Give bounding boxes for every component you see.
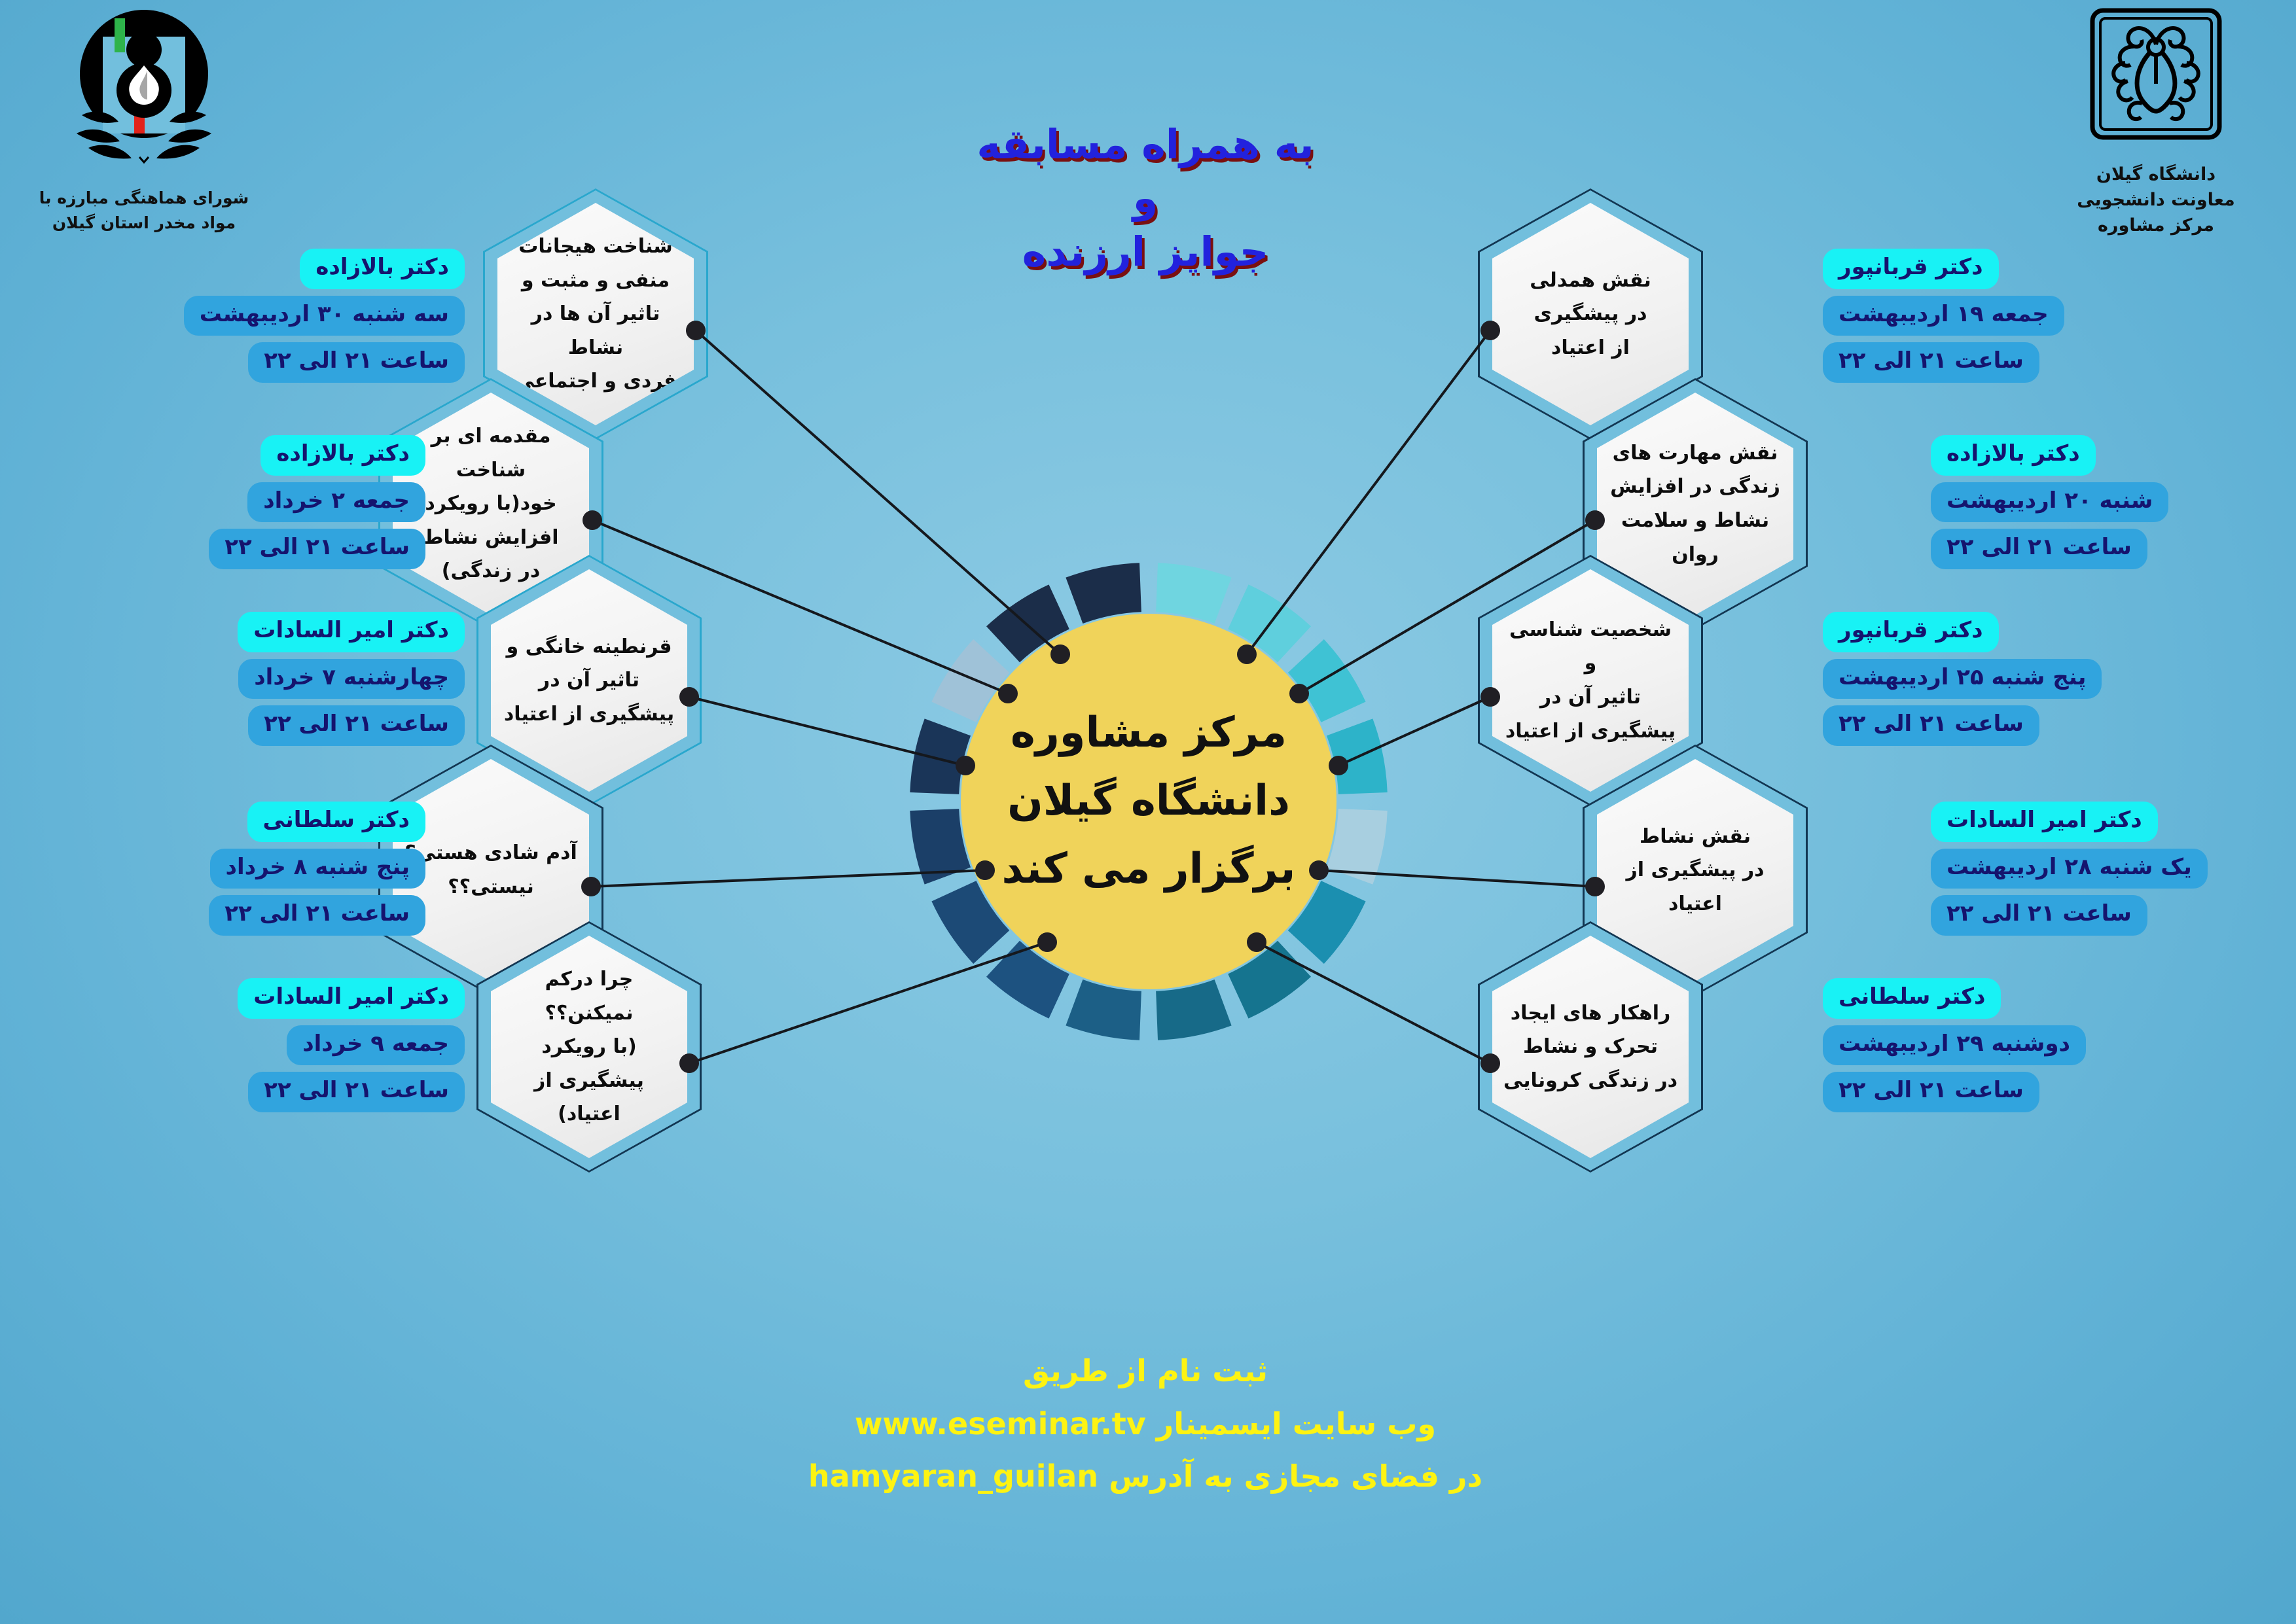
session-topic-line: در زندگی) [442,559,540,582]
ring-segment [1156,980,1231,1040]
time-pill: ساعت ۲۱ الی ۲۲ [209,895,425,936]
footer-line3: در فضای مجازی به آدرس hamyaran_guilan [589,1450,1702,1503]
left-brand-caption: شورای هماهنگی مبارزه با مواد مخدر استان … [7,186,281,235]
registration-footer: ثبت نام از طریق وب سایت ایسمینار www.ese… [589,1345,1702,1503]
session-topic: مقدمه ای بر شناختخود(با رویکردافزایش نشا… [403,419,579,588]
connector-dot [1585,877,1605,896]
session-topic-line: نیستی؟؟ [448,875,533,898]
poster-title-line1: به همراه مسابقه [916,118,1374,171]
session-topic-line: شناخت هیجانات [518,235,672,258]
session-topic-line: در پیشگیری از [1626,858,1765,881]
connector-dot [1247,932,1266,952]
connector-dot [1289,684,1309,703]
connector-dot [956,756,975,775]
connector-dot [1329,756,1348,775]
session-topic-line: فردی و اجتماعی [514,370,676,393]
speaker-pill: دکتر بالازاده [1931,435,2096,476]
session-topic-line: خود(با رویکرد [425,492,556,515]
speaker-pill: دکتر امیر السادات [238,612,465,652]
session-topic: چرا درکم نمیکنن؟؟(با رویکردپیشگیری از اع… [501,962,677,1131]
session-topic-line: تاثیر آن ها در نشاط [531,302,660,359]
footer-line1: ثبت نام از طریق [589,1345,1702,1398]
session-schedule-labels: دکتر بالازادهشنبه ۲۰ اردیبهشتساعت ۲۱ الی… [1931,435,2296,569]
connector-dot [1037,932,1057,952]
session-topic: راهکار های ایجادتحرک و نشاطدر زندگی کرون… [1503,997,1678,1098]
session-topic-line: مقدمه ای بر شناخت [431,425,551,482]
connector-dot [998,684,1018,703]
speaker-pill: دکتر سلطانی [1823,978,2001,1019]
time-pill: ساعت ۲۱ الی ۲۲ [248,1072,465,1112]
session-topic-line: پیشگیری از اعتیاد [1505,720,1676,743]
session-topic-line: چرا درکم نمیکنن؟؟ [545,968,633,1025]
date-pill: پنج شنبه ۲۵ اردیبهشت [1823,659,2102,699]
session-topic-line: تاثیر آن در [539,669,639,692]
center-line2: دانشگاه گیلان [1007,768,1290,836]
session-topic-line: افزایش نشاط [423,526,558,549]
session-schedule-labels: دکتر سلطانیپنج شنبه ۸ خردادساعت ۲۱ الی ۲… [59,802,425,936]
time-pill: ساعت ۲۱ الی ۲۲ [209,529,425,569]
right-brand-caption-line2: معاونت دانشجویی [2077,190,2235,210]
university-of-guilan-logo [2087,5,2225,159]
time-pill: ساعت ۲۱ الی ۲۲ [1823,705,2039,746]
session-topic-line: در زندگی کرونایی [1503,1069,1677,1092]
session-schedule-labels: دکتر قربانپورپنج شنبه ۲۵ اردیبهشتساعت ۲۱… [1823,612,2189,746]
session-topic: نقش مهارت هایزندگی در افزایشنشاط و سلامت… [1607,436,1783,571]
speaker-pill: دکتر سلطانی [247,802,425,842]
connector-dot [1050,644,1070,664]
center-line3: برگزار می کند [1002,836,1296,904]
date-pill: دوشنبه ۲۹ اردیبهشت [1823,1025,2086,1066]
session-topic-line: آدم شادی هستی؟ [404,841,577,864]
connector-dot [975,860,995,880]
session-topic: قرنطینه خانگی وتاثیر آن درپیشگیری از اعت… [501,630,677,732]
session-topic: شناخت هیجاناتمنفی و مثبت وتاثیر آن ها در… [508,230,683,398]
time-pill: ساعت ۲۱ الی ۲۲ [1823,1072,2039,1112]
connector-line [695,330,1062,656]
session-topic-line: پیشگیری از اعتیاد) [534,1069,644,1126]
right-brand-caption-line3: مرکز مشاوره [2098,215,2214,236]
session-schedule-labels: دکتر بالازادهسه شنبه ۳۰ اردیبهشتساعت ۲۱ … [98,249,465,383]
session-topic: نقش نشاطدر پیشگیری ازاعتیاد [1607,820,1783,921]
speaker-pill: دکتر امیر السادات [238,978,465,1019]
connector-dot [1585,510,1605,530]
date-pill: جمعه ۱۹ اردیبهشت [1823,296,2064,336]
speaker-pill: دکتر قربانپور [1823,612,1999,652]
anti-narcotics-council-logo [62,5,226,182]
session-topic-line: شخصیت شناسی و [1509,618,1672,675]
date-pill: یک شنبه ۲۸ اردیبهشت [1931,849,2208,889]
connector-dot [581,877,601,896]
session-schedule-labels: دکتر امیر الساداتیک شنبه ۲۸ اردیبهشتساعت… [1931,802,2296,936]
session-topic-line: تاثیر آن در [1540,686,1641,709]
session-topic-line: در پیشگیری [1534,302,1647,325]
speaker-pill: دکتر امیر السادات [1931,802,2158,842]
date-pill: جمعه ۲ خرداد [247,482,425,523]
connector-dot [1237,644,1257,664]
center-line1: مرکز مشاوره [1011,699,1287,768]
speaker-pill: دکتر بالازاده [300,249,465,289]
date-pill: جمعه ۹ خرداد [287,1025,465,1066]
session-schedule-labels: دکتر قربانپورجمعه ۱۹ اردیبهشتساعت ۲۱ الی… [1823,249,2189,383]
session-topic-line: راهکار های ایجاد [1511,1002,1671,1025]
ring-segment [1066,980,1141,1040]
session-topic: شخصیت شناسی وتاثیر آن درپیشگیری از اعتیا… [1503,613,1678,748]
right-brand-caption: دانشگاه گیلان معاونت دانشجویی مرکز مشاور… [2025,162,2287,238]
poster-title-line2: و [916,171,1374,225]
session-schedule-labels: دکتر امیر الساداتچهارشنبه ۷ خردادساعت ۲۱… [98,612,465,746]
session-topic-line: قرنطینه خانگی و [507,635,672,658]
time-pill: ساعت ۲۱ الی ۲۲ [1931,895,2147,936]
date-pill: چهارشنبه ۷ خرداد [238,659,465,699]
poster-title-line3: جوایز ارزنده [916,225,1374,279]
connector-dot [686,321,706,340]
session-topic: آدم شادی هستی؟نیستی؟؟ [403,836,579,904]
session-topic-line: نقش همدلی [1530,269,1651,292]
center-wheel: مرکز مشاوره دانشگاه گیلان برگزار می کند [910,563,1388,1040]
date-pill: پنج شنبه ۸ خرداد [210,849,425,889]
speaker-pill: دکتر بالازاده [260,435,425,476]
speaker-pill: دکتر قربانپور [1823,249,1999,289]
right-brand-caption-line1: دانشگاه گیلان [2096,164,2215,185]
connector-dot [583,510,602,530]
session-topic-line: از اعتیاد [1551,336,1630,359]
session-topic-line: نقش مهارت های [1613,442,1778,465]
session-topic: نقش همدلیدر پیشگیریاز اعتیاد [1503,264,1678,365]
session-topic-line: (با رویکرد [541,1035,636,1058]
date-pill: سه شنبه ۳۰ اردیبهشت [184,296,465,336]
connector-dot [1480,1053,1500,1073]
session-topic-line: تحرک و نشاط [1523,1035,1658,1058]
session-schedule-labels: دکتر بالازادهجمعه ۲ خردادساعت ۲۱ الی ۲۲ [59,435,425,569]
left-brand-caption-line1: شورای هماهنگی مبارزه با [39,188,249,207]
time-pill: ساعت ۲۱ الی ۲۲ [1823,342,2039,383]
left-brand-caption-line2: مواد مخدر استان گیلان [52,213,236,232]
time-pill: ساعت ۲۱ الی ۲۲ [1931,529,2147,569]
university-of-guilan-brand: دانشگاه گیلان معاونت دانشجویی مرکز مشاور… [2025,5,2287,238]
poster-canvas: شورای هماهنگی مبارزه با مواد مخدر استان … [0,0,2296,1624]
anti-narcotics-council-brand: شورای هماهنگی مبارزه با مواد مخدر استان … [7,5,281,235]
session-schedule-labels: دکتر سلطانیدوشنبه ۲۹ اردیبهشتساعت ۲۱ الی… [1823,978,2189,1112]
connector-dot [1309,860,1329,880]
connector-dot [679,687,699,707]
session-schedule-labels: دکتر امیر الساداتجمعه ۹ خردادساعت ۲۱ الی… [98,978,465,1112]
center-disc: مرکز مشاوره دانشگاه گیلان برگزار می کند [961,614,1336,989]
session-topic-line: زندگی در افزایش [1610,475,1780,498]
connector-dot [679,1053,699,1073]
date-pill: شنبه ۲۰ اردیبهشت [1931,482,2168,523]
session-topic-line: اعتیاد [1668,892,1722,915]
session-topic-line: پیشگیری از اعتیاد [504,703,674,726]
footer-line2: وب سایت ایسمینار www.eseminar.tv [589,1398,1702,1451]
poster-title: به همراه مسابقه و جوایز ارزنده [916,118,1374,278]
session-topic-line: نقش نشاط [1640,825,1751,848]
time-pill: ساعت ۲۱ الی ۲۲ [248,342,465,383]
connector-dot [1480,321,1500,340]
session-topic-line: نشاط و سلامت روان [1621,509,1769,566]
connector-dot [1480,687,1500,707]
session-topic-line: منفی و مثبت و [522,269,670,292]
time-pill: ساعت ۲۱ الی ۲۲ [248,705,465,746]
